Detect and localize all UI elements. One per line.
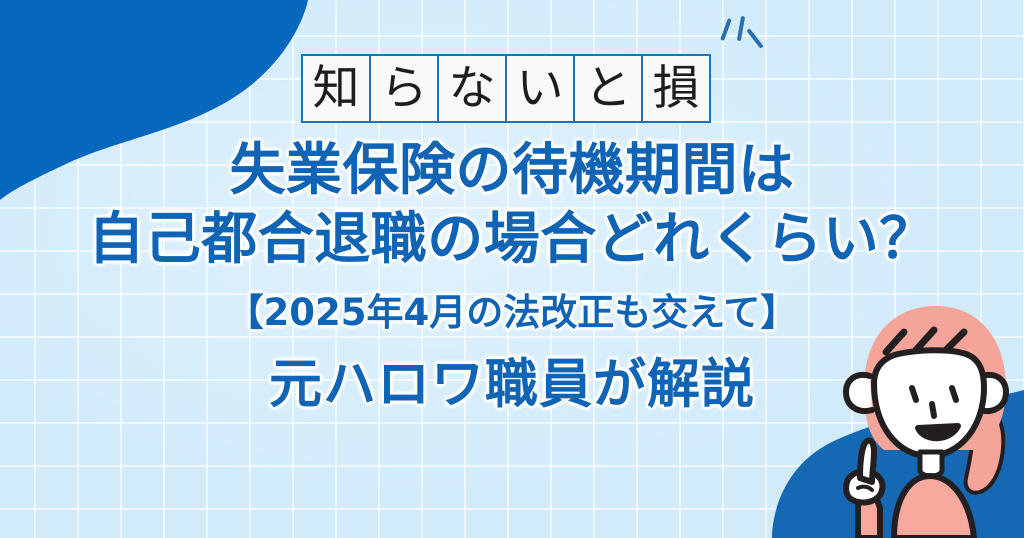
neck bbox=[920, 452, 942, 476]
kicker-char-box: 知 bbox=[301, 54, 371, 123]
kicker-char-box: な bbox=[437, 54, 507, 123]
pointing-woman-illustration bbox=[824, 292, 1024, 538]
kicker-char-box: ら bbox=[369, 54, 439, 123]
headline-line-1: 失業保険の待機期間は bbox=[0, 138, 1024, 204]
nose bbox=[932, 404, 934, 416]
sparkle-stroke bbox=[737, 16, 745, 41]
kicker-char-box: 損 bbox=[641, 54, 711, 123]
left-eye bbox=[912, 388, 916, 400]
kicker-boxes: 知 ら な い と 損 bbox=[301, 54, 711, 123]
left-ear bbox=[846, 375, 872, 411]
torso bbox=[894, 476, 974, 538]
mouth bbox=[918, 426, 958, 438]
sparkle-icon bbox=[708, 14, 778, 70]
right-eye bbox=[952, 388, 956, 400]
kicker-char-box: い bbox=[505, 54, 575, 123]
thumbnail-canvas: 知 ら な い と 損 失業保険の待機期間は 自己都合退職の場合どれくらい？ 【… bbox=[0, 0, 1024, 538]
sparkle-stroke bbox=[746, 28, 763, 49]
sparkle-stroke bbox=[720, 18, 732, 41]
index-finger bbox=[860, 440, 874, 482]
headline-line-2: 自己都合退職の場合どれくらい？ bbox=[0, 204, 1024, 276]
kicker-char-box: と bbox=[573, 54, 643, 123]
